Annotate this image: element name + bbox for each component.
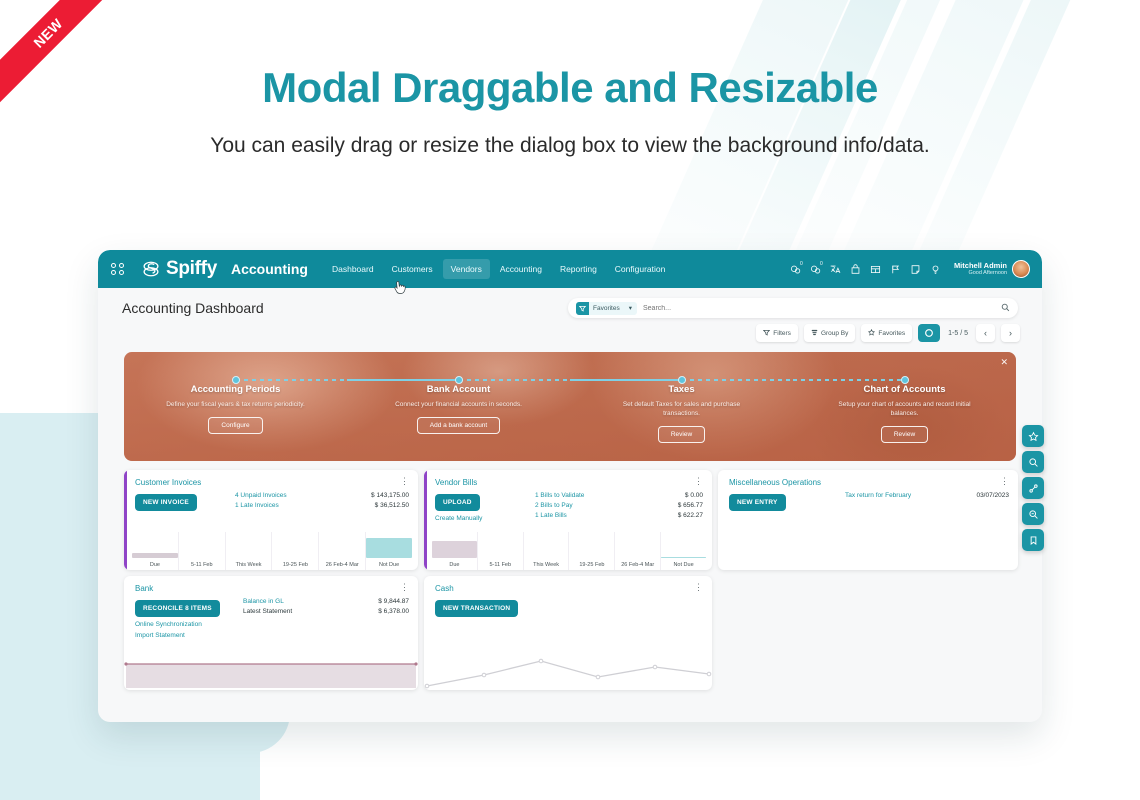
stat-value: $ 622.27 — [678, 511, 703, 521]
step-connector — [570, 379, 682, 381]
control-bar: Accounting Dashboard Favorites ▾ — [98, 288, 1042, 356]
group-by-button[interactable]: Group By — [804, 324, 855, 342]
previous-page-button[interactable]: ‹ — [976, 324, 995, 342]
step-dot — [901, 376, 909, 384]
step-dot — [232, 376, 240, 384]
search-input[interactable] — [643, 305, 1001, 312]
user-greeting: Good Afternoon — [954, 270, 1007, 276]
bar-label: 26 Feb-4 Mar — [326, 560, 359, 570]
activity-icon[interactable]: 0 — [810, 264, 821, 275]
add-bank-account-button[interactable]: Add a bank account — [417, 417, 500, 434]
flag-icon[interactable] — [890, 264, 901, 275]
main-menu: Dashboard Customers Vendors Accounting R… — [324, 259, 673, 279]
import-statement-link[interactable]: Import Statement — [135, 632, 227, 639]
bar-column: Not Due — [365, 532, 412, 570]
bar-column: 5-11 Feb — [178, 532, 225, 570]
card-menu-icon[interactable]: ⋮ — [1000, 478, 1009, 484]
bar-label: Due — [449, 560, 459, 570]
card-menu-icon[interactable]: ⋮ — [400, 478, 409, 484]
new-ribbon-label: NEW — [0, 0, 120, 107]
star-icon — [868, 329, 875, 338]
bulb-icon[interactable] — [930, 264, 941, 275]
navbar-right-tools: 0 0 — [790, 260, 1030, 278]
search-facet-favorites[interactable]: Favorites ▾ — [576, 302, 637, 315]
grid-icon[interactable] — [870, 264, 881, 275]
view-toggle-button[interactable] — [918, 324, 940, 342]
bar-column: 5-11 Feb — [477, 532, 523, 570]
card-menu-icon[interactable]: ⋮ — [694, 584, 703, 590]
search-icon[interactable] — [1001, 299, 1010, 317]
apps-grid-icon[interactable] — [110, 262, 128, 276]
new-entry-button[interactable]: NEW ENTRY — [729, 494, 786, 511]
step-title: Chart of Accounts — [864, 384, 946, 395]
edit-icon[interactable] — [1022, 477, 1044, 499]
pager-count: 1-5 / 5 — [946, 330, 970, 337]
bar-label: This Week — [533, 560, 559, 570]
page-title: Modal Draggable and Resizable — [0, 64, 1140, 112]
bar-column: This Week — [523, 532, 569, 570]
step-connector — [793, 379, 905, 381]
menu-item-vendors[interactable]: Vendors — [443, 259, 490, 279]
bar-label: Due — [150, 560, 160, 570]
brand-name: Spiffy — [166, 258, 217, 280]
customer-invoices-bar-chart: Due 5-11 Feb This Week 19-25 Feb 26 Feb-… — [124, 532, 418, 570]
create-manually-link[interactable]: Create Manually — [435, 515, 527, 522]
card-cash[interactable]: Cash ⋮ NEW TRANSACTION — [424, 576, 712, 690]
card-vendor-bills[interactable]: Vendor Bills ⋮ UPLOAD Create Manually 1 … — [424, 470, 712, 570]
bank-area-chart — [124, 654, 418, 690]
bar-column: Due — [432, 532, 477, 570]
menu-item-reporting[interactable]: Reporting — [552, 259, 605, 279]
card-title: Bank — [135, 584, 153, 593]
review-taxes-button[interactable]: Review — [658, 426, 705, 443]
filter-icon — [763, 329, 770, 338]
stat-value: $ 6,378.00 — [378, 607, 409, 617]
bar-label: Not Due — [379, 560, 399, 570]
stat-value: $ 0.00 — [678, 491, 703, 501]
star-icon[interactable] — [1022, 425, 1044, 447]
bar-label: Not Due — [673, 560, 693, 570]
zoom-icon[interactable] — [1022, 503, 1044, 525]
next-page-button[interactable]: › — [1001, 324, 1020, 342]
cash-line-chart — [424, 646, 712, 690]
step-description: Connect your financial accounts in secon… — [384, 400, 534, 409]
step-description: Setup your chart of accounts and record … — [830, 400, 980, 418]
bar-column: 19-25 Feb — [568, 532, 614, 570]
card-menu-icon[interactable]: ⋮ — [694, 478, 703, 484]
messages-badge: 0 — [798, 261, 805, 268]
dashboard-cards: Customer Invoices ⋮ NEW INVOICE 4 Unpaid… — [124, 470, 1018, 696]
translate-icon[interactable] — [830, 264, 841, 275]
top-navbar: Spiffy Accounting Dashboard Customers Ve… — [98, 250, 1042, 288]
bar-label: 19-25 Feb — [579, 560, 604, 570]
step-title: Taxes — [668, 384, 694, 395]
bar-column: 26 Feb-4 Mar — [614, 532, 660, 570]
favorites-label: Favorites — [878, 330, 905, 337]
group-by-label: Group By — [821, 330, 848, 337]
bar-column: Due — [132, 532, 178, 570]
stat-label[interactable]: Balance in GL — [243, 597, 292, 607]
card-title: Cash — [435, 584, 454, 593]
stat-value: $ 9,844.87 — [378, 597, 409, 607]
filters-label: Filters — [773, 330, 791, 337]
menu-item-dashboard[interactable]: Dashboard — [324, 259, 382, 279]
stat-label[interactable]: 2 Bills to Pay — [535, 501, 584, 511]
onboarding-steps: Accounting Periods Define your fiscal ye… — [124, 352, 1016, 461]
bar-label: This Week — [236, 560, 262, 570]
facet-chevron-down-icon[interactable]: ▾ — [625, 304, 637, 312]
menu-item-accounting[interactable]: Accounting — [492, 259, 550, 279]
user-menu[interactable]: Mitchell Admin Good Afternoon — [954, 260, 1030, 278]
tax-return-label[interactable]: Tax return for February — [845, 491, 911, 501]
filters-button[interactable]: Filters — [756, 324, 798, 342]
activity-badge: 0 — [818, 261, 825, 268]
bar-column: Not Due — [660, 532, 706, 570]
onboarding-step-bank-account: Bank Account Connect your financial acco… — [347, 352, 570, 461]
review-coa-button[interactable]: Review — [881, 426, 928, 443]
search-icon[interactable] — [1022, 451, 1044, 473]
card-title: Customer Invoices — [135, 478, 201, 487]
step-connector — [682, 379, 794, 381]
step-title: Bank Account — [427, 384, 491, 395]
stat-value: $ 143,175.00 — [371, 491, 409, 501]
card-bank[interactable]: Bank ⋮ RECONCILE 8 ITEMS Online Synchron… — [124, 576, 418, 690]
user-name: Mitchell Admin — [954, 262, 1007, 271]
filter-funnel-icon — [576, 302, 589, 315]
favorites-button[interactable]: Favorites — [861, 324, 912, 342]
menu-item-configuration[interactable]: Configuration — [607, 259, 674, 279]
tax-return-date: 03/07/2023 — [976, 491, 1009, 501]
stat-label[interactable]: 1 Late Invoices — [235, 501, 287, 511]
onboarding-step-accounting-periods: Accounting Periods Define your fiscal ye… — [124, 352, 347, 461]
bar-label: 5-11 Feb — [191, 560, 213, 570]
bar-label: 5-11 Feb — [489, 560, 511, 570]
configure-button[interactable]: Configure — [208, 417, 262, 434]
stat-value: $ 656.77 — [678, 501, 703, 511]
step-dot — [678, 376, 686, 384]
vendor-bills-bar-chart: Due 5-11 Feb This Week 19-25 Feb 26 Feb-… — [424, 532, 712, 570]
bar-column: 26 Feb-4 Mar — [318, 532, 365, 570]
stat-label[interactable]: 4 Unpaid Invoices — [235, 491, 287, 501]
bookmark-icon[interactable] — [1022, 529, 1044, 551]
card-title: Vendor Bills — [435, 478, 477, 487]
floating-toolbar — [1022, 425, 1044, 551]
avatar[interactable] — [1012, 260, 1030, 278]
messages-icon[interactable]: 0 — [790, 264, 801, 275]
search-facet-label: Favorites — [589, 305, 625, 312]
card-customer-invoices[interactable]: Customer Invoices ⋮ NEW INVOICE 4 Unpaid… — [124, 470, 418, 570]
step-connector — [459, 379, 571, 381]
stat-value: $ 36,512.50 — [371, 501, 409, 511]
menu-item-customers[interactable]: Customers — [384, 259, 441, 279]
group-icon — [811, 329, 818, 338]
step-dot — [455, 376, 463, 384]
brand-logo[interactable]: Spiffy — [140, 258, 217, 280]
card-menu-icon[interactable]: ⋮ — [400, 584, 409, 590]
dashboard-title: Accounting Dashboard — [122, 300, 264, 316]
bar-column: This Week — [225, 532, 272, 570]
bar-label: 26 Feb-4 Mar — [621, 560, 654, 570]
stat-label[interactable]: 1 Bills to Validate — [535, 491, 584, 501]
note-icon[interactable] — [910, 264, 921, 275]
bar-label: 19-25 Feb — [283, 560, 308, 570]
onboarding-step-chart-of-accounts: Chart of Accounts Setup your chart of ac… — [793, 352, 1016, 461]
page-subtitle: You can easily drag or resize the dialog… — [0, 130, 1140, 161]
stat-label[interactable]: 1 Late Bills — [535, 511, 584, 521]
card-miscellaneous-operations[interactable]: Miscellaneous Operations ⋮ NEW ENTRY Tax… — [718, 470, 1018, 570]
onboarding-step-taxes: Taxes Set default Taxes for sales and pu… — [570, 352, 793, 461]
cards-row-1: Customer Invoices ⋮ NEW INVOICE 4 Unpaid… — [124, 470, 1018, 570]
new-ribbon: NEW — [0, 0, 120, 120]
reconcile-button[interactable]: RECONCILE 8 ITEMS — [135, 600, 220, 617]
shop-icon[interactable] — [850, 264, 861, 275]
new-transaction-button[interactable]: NEW TRANSACTION — [435, 600, 518, 617]
app-name-label: Accounting — [231, 261, 308, 277]
online-synchronization-link[interactable]: Online Synchronization — [135, 621, 227, 628]
spiffy-logo-icon — [140, 258, 162, 280]
card-title: Miscellaneous Operations — [729, 478, 821, 487]
stat-label: Latest Statement — [243, 607, 292, 617]
step-title: Accounting Periods — [191, 384, 281, 395]
bar-column: 19-25 Feb — [271, 532, 318, 570]
step-description: Set default Taxes for sales and purchase… — [607, 400, 757, 418]
step-description: Define your fiscal years & tax returns p… — [161, 400, 311, 409]
view-controls: Filters Group By — [756, 324, 1020, 342]
cards-row-2: Bank ⋮ RECONCILE 8 ITEMS Online Synchron… — [124, 576, 1018, 690]
new-invoice-button[interactable]: NEW INVOICE — [135, 494, 197, 511]
step-connector — [347, 379, 459, 381]
page-root: NEW Modal Draggable and Resizable You ca… — [0, 0, 1140, 800]
step-connector — [236, 379, 348, 381]
upload-button[interactable]: UPLOAD — [435, 494, 480, 511]
search-bar[interactable]: Favorites ▾ — [568, 298, 1018, 318]
onboarding-banner: ✕ Accounting Periods Define your fiscal … — [124, 352, 1016, 461]
